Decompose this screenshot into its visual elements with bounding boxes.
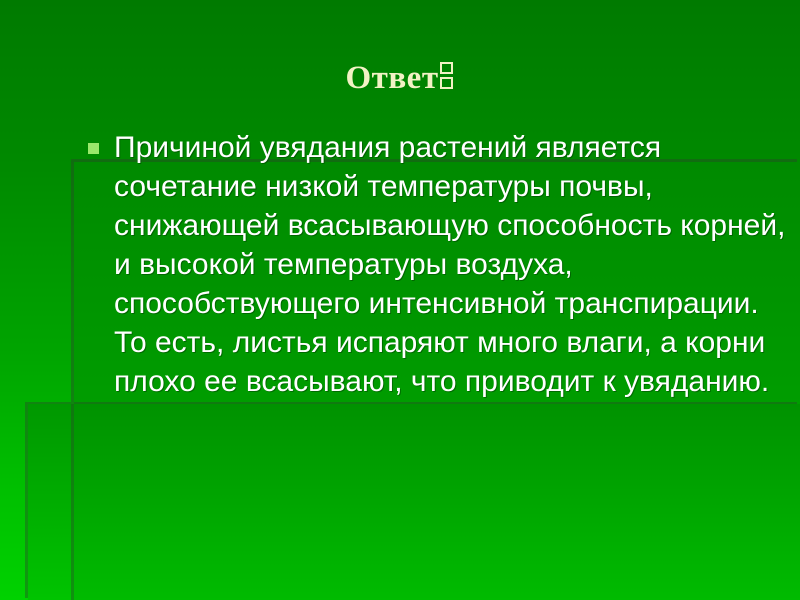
presentation-slide: Ответ Причиной увядания растений являетс… [0,0,800,600]
decorative-panel-inner [74,404,800,600]
slide-body-container: Причиной увядания растений является соче… [88,128,788,401]
square-bullet-icon [88,143,99,154]
slide-title: Ответ [345,58,454,98]
decorative-panel-outer [28,404,800,600]
tofu-colon-icon [440,60,455,90]
slide-title-container: Ответ [0,58,800,98]
slide-title-text: Ответ [345,60,438,96]
bullet-body-text: Причиной увядания растений является соче… [114,128,786,401]
bullet-list-item: Причиной увядания растений является соче… [88,128,788,401]
